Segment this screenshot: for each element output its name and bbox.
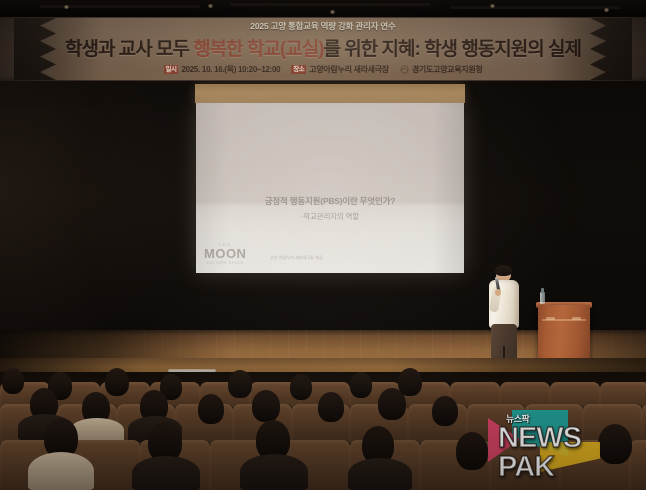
presenter-hair bbox=[495, 265, 512, 276]
presenter-hand bbox=[495, 289, 501, 296]
banner-title-part1: 학생과 교사 모두 bbox=[65, 39, 193, 60]
photo-scene: 2025 고양 통합교육 역량 강화 관리자 연수 학생과 교사 모두 행복한 … bbox=[0, 0, 646, 490]
slide-subtitle: -학교관리자의 역할 bbox=[196, 211, 464, 222]
banner-subtitle: 2025 고양 통합교육 역량 강화 관리자 연수 bbox=[250, 20, 395, 32]
bottle-body bbox=[540, 292, 545, 304]
audience-head bbox=[198, 394, 224, 424]
ceiling-spotlight bbox=[208, 4, 213, 8]
audience-head bbox=[2, 368, 24, 394]
banner-meta-venue: 장소 고양아람누리 새라새극장 bbox=[291, 64, 389, 75]
theater-seat bbox=[642, 404, 646, 444]
slide-venue-logo: THE MOON CULTURE SPACE bbox=[204, 242, 246, 265]
audience-head bbox=[290, 374, 312, 400]
meta-chip-datetime: 일시 bbox=[164, 65, 179, 74]
screen-valance bbox=[195, 84, 465, 103]
news-pak-watermark: 뉴스팍 NEWS PAK bbox=[488, 408, 640, 470]
ceiling-spotlight bbox=[490, 4, 495, 8]
audience-shoulders bbox=[240, 454, 308, 490]
audience-shoulders bbox=[348, 458, 412, 490]
slide-title: 긍정적 행동지원(PBS)이란 무엇인가? bbox=[196, 195, 464, 207]
audience-head bbox=[432, 396, 458, 426]
meta-text-venue: 고양아람누리 새라새극장 bbox=[309, 64, 389, 75]
ceiling-truss bbox=[450, 6, 620, 9]
water-bottle bbox=[540, 288, 545, 304]
audience-head bbox=[105, 368, 129, 396]
audience-head bbox=[456, 432, 488, 470]
ceiling-spotlight bbox=[64, 5, 69, 9]
audience-head bbox=[378, 388, 406, 420]
banner-meta-row: 일시 2025. 10. 16.(목) 10:20~12:00 장소 고양아람누… bbox=[164, 64, 483, 75]
meta-text-datetime: 2025. 10. 16.(목) 10:20~12:00 bbox=[181, 64, 280, 75]
slide-footnote: 고양 아람누리 새라새극장 제공 bbox=[270, 255, 323, 261]
event-banner: 2025 고양 통합교육 역량 강화 관리자 연수 학생과 교사 모두 행복한 … bbox=[0, 17, 646, 81]
audience-head bbox=[350, 372, 372, 398]
banner-title-highlight: 행복한 학교(교실) bbox=[193, 39, 323, 60]
bottle-cap bbox=[541, 288, 544, 293]
banner-meta-organizer: 경기도고양교육지원청 bbox=[400, 64, 483, 75]
slide-logo-name: MOON bbox=[204, 247, 246, 260]
audience-head bbox=[318, 392, 344, 422]
meta-chip-venue: 장소 bbox=[291, 65, 306, 74]
lectern-notch bbox=[546, 317, 555, 320]
meta-text-organizer: 경기도고양교육지원청 bbox=[412, 64, 483, 75]
banner-title: 학생과 교사 모두 행복한 학교(교실)를 위한 지혜: 학생 행동지원의 실제 bbox=[65, 34, 581, 61]
audience-shoulders bbox=[28, 452, 94, 490]
audience-head bbox=[252, 390, 280, 422]
audience-shoulders bbox=[70, 418, 124, 442]
ceiling-spotlight bbox=[330, 10, 335, 14]
watermark-latin-text: NEWS PAK bbox=[498, 424, 640, 482]
ceiling-spotlight bbox=[604, 8, 609, 12]
ceiling-truss bbox=[230, 3, 430, 6]
education-office-emblem-icon bbox=[400, 65, 409, 74]
lectern-notch bbox=[572, 317, 581, 320]
banner-title-part2: 를 위한 지혜: 학생 행동지원의 실제 bbox=[324, 39, 581, 60]
audience-shoulders bbox=[132, 456, 200, 490]
banner-meta-datetime: 일시 2025. 10. 16.(목) 10:20~12:00 bbox=[164, 64, 281, 75]
projection-screen: 긍정적 행동지원(PBS)이란 무엇인가? -학교관리자의 역할 THE MOO… bbox=[196, 103, 464, 273]
slide-logo-tagline: CULTURE SPACE bbox=[207, 261, 244, 265]
audience-head bbox=[228, 370, 252, 398]
